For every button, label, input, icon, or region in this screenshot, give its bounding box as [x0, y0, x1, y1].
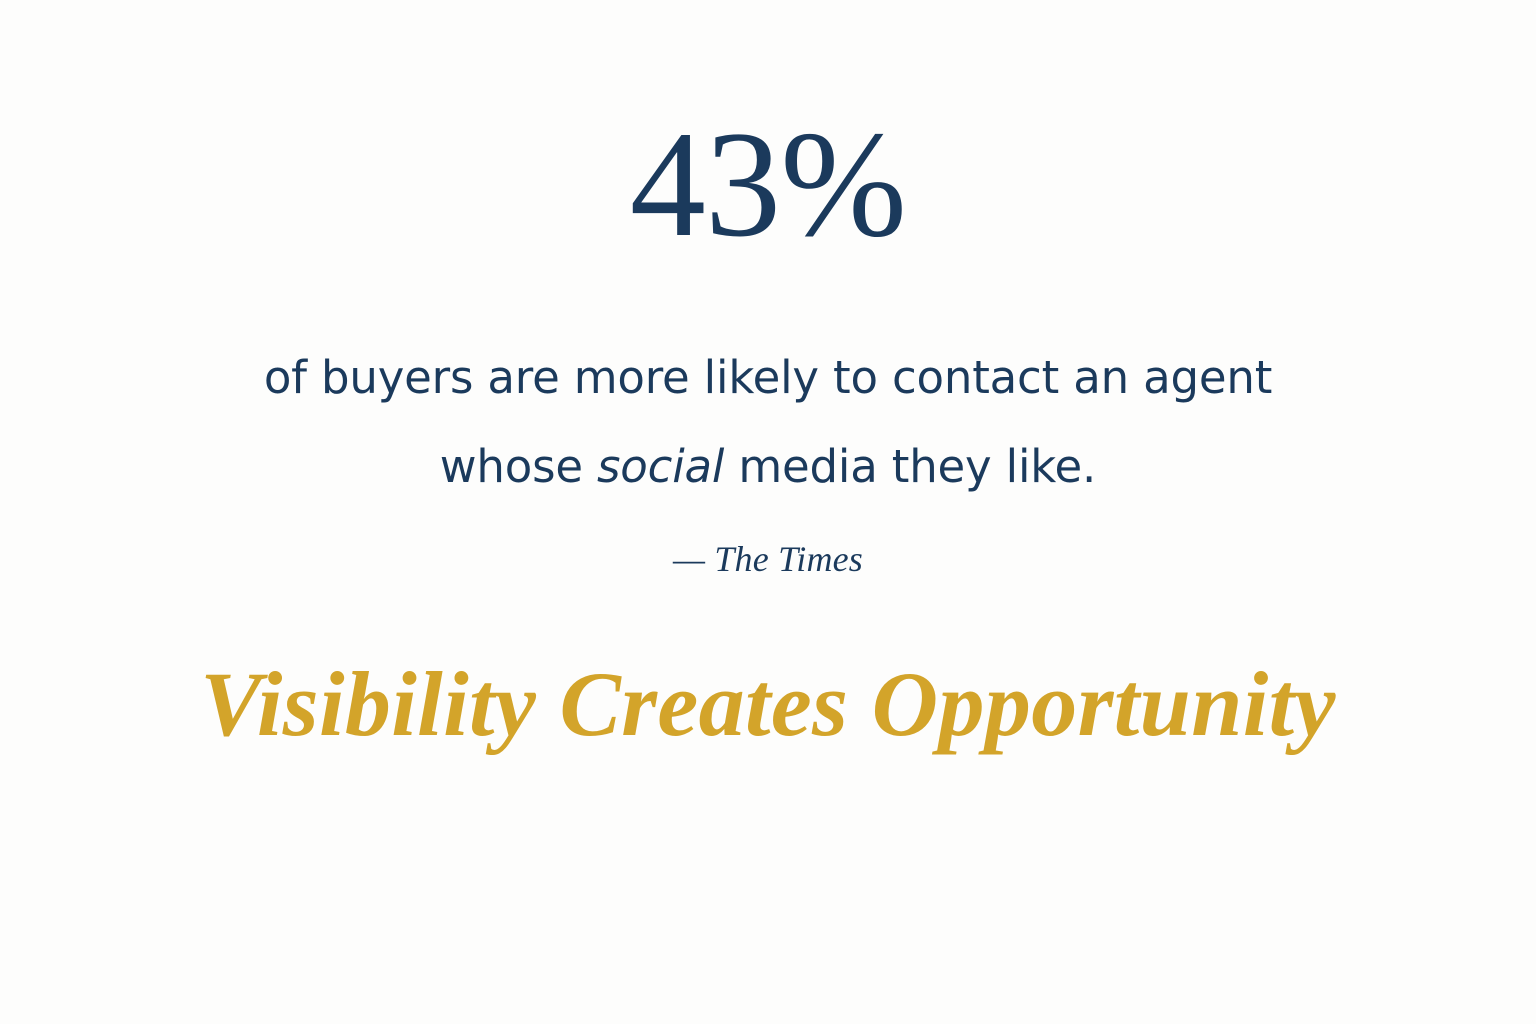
stat-percentage: 43% — [0, 108, 1536, 260]
headline-block: Visibility Creates Opportunity — [0, 653, 1536, 756]
quote-line-2: whose social media they like. — [0, 422, 1536, 511]
statistic-quote-slide: 43% of buyers are more likely to contact… — [0, 0, 1536, 1024]
attribution-block: — The Times — [0, 538, 1536, 581]
quote-block: of buyers are more likely to contact an … — [0, 333, 1536, 511]
quote-line-2-suffix: media they like. — [724, 440, 1096, 493]
quote-line-2-prefix: whose — [440, 440, 597, 493]
stat-block: 43% — [0, 108, 1536, 260]
quote-attribution: — The Times — [673, 538, 863, 581]
gold-headline: Visibility Creates Opportunity — [200, 653, 1336, 756]
quote-emphasis-social: social — [597, 440, 724, 493]
quote-line-1: of buyers are more likely to contact an … — [0, 333, 1536, 422]
